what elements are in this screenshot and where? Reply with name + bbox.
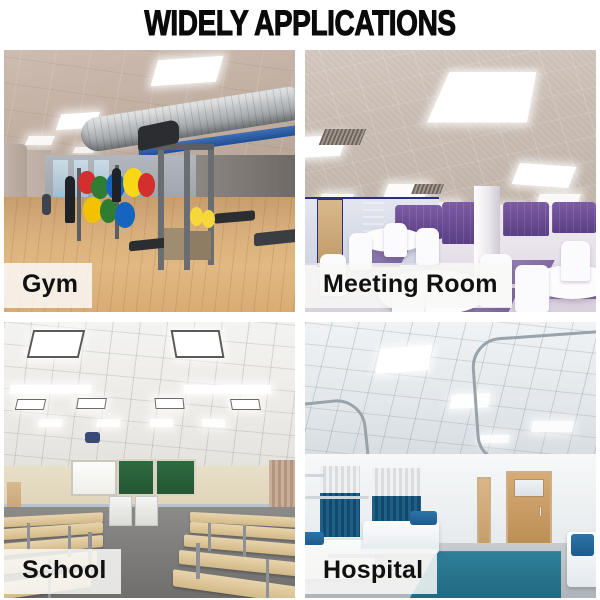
meeting-room-vent (411, 184, 444, 194)
led-panel-icon (151, 56, 224, 87)
school-desk-leg (196, 543, 199, 579)
meeting-room-booth-seat (552, 202, 596, 233)
hospital-wall-rail (305, 474, 325, 477)
school-projector (85, 432, 100, 443)
panel-gym[interactable]: Gym (4, 50, 295, 312)
school-chalkboard (117, 459, 155, 496)
hospital-curtain (320, 466, 361, 538)
panel-label-hospital: Hospital (305, 549, 437, 594)
school-desk-leg (208, 523, 211, 551)
gym-weight-stack (164, 228, 184, 259)
led-panel-icon (375, 345, 433, 373)
led-panel-icon (155, 398, 185, 409)
gym-person (112, 168, 121, 202)
application-collage: WIDELY APPLICATIONS (0, 0, 600, 600)
hospital-door-frame (477, 477, 492, 552)
led-panel-icon (38, 419, 63, 427)
school-desk-leg (243, 526, 246, 556)
hospital-bed-headboard (410, 511, 437, 525)
panel-label-gym: Gym (4, 263, 92, 308)
school-desk-leg (266, 559, 269, 598)
led-panel-icon (9, 385, 92, 394)
gym-weight-plate (202, 210, 215, 228)
led-panel-icon (14, 399, 46, 410)
led-panel-icon (511, 163, 576, 188)
gym-person (42, 194, 51, 215)
hospital-curtain-bottom (320, 493, 361, 537)
panel-grid: Gym (4, 50, 596, 598)
hospital-bed-headboard (571, 534, 594, 556)
hospital-bed (567, 532, 596, 587)
hospital-door (506, 471, 553, 551)
gym-person (65, 176, 75, 223)
school-projection-screen (71, 460, 118, 496)
meeting-room-chair (384, 223, 407, 257)
school-podium (109, 496, 132, 526)
meeting-room-chair (416, 228, 439, 265)
school-podium (135, 496, 158, 526)
led-panel-icon (25, 136, 55, 145)
led-panel-icon (230, 399, 261, 410)
panel-label-school: School (4, 549, 121, 594)
led-panel-icon (149, 419, 173, 427)
meeting-room-chair (515, 265, 550, 312)
hospital-curtain-top (320, 466, 361, 493)
hospital-door-handle (539, 506, 542, 517)
hospital-curtain-track (470, 327, 596, 466)
hospital-bed-headboard (305, 532, 324, 545)
panel-label-meeting-room: Meeting Room (305, 263, 512, 308)
gym-weight-plate (138, 173, 155, 197)
gym-weight-stack (190, 231, 210, 260)
meeting-room-booth-seat (503, 202, 550, 236)
page-title: WIDELY APPLICATIONS (60, 2, 540, 46)
school-chalkboard (155, 459, 196, 496)
led-panel-icon (76, 398, 107, 409)
meeting-room-vent (319, 129, 366, 145)
led-panel-icon (97, 419, 121, 427)
hospital-door-window (514, 479, 545, 497)
led-panel-icon (201, 419, 225, 427)
hospital-wall-rail (305, 496, 369, 499)
led-panel-icon (184, 385, 273, 394)
panel-hospital[interactable]: Hospital (305, 322, 596, 598)
hospital-curtain-top (372, 468, 421, 495)
led-panel-icon (170, 330, 224, 358)
meeting-room-chair (561, 241, 590, 280)
school-desk-leg (27, 523, 30, 551)
gym-weight-plate (115, 202, 135, 228)
panel-school[interactable]: School (4, 322, 295, 598)
panel-meeting-room[interactable]: Meeting Room (305, 50, 596, 312)
led-panel-icon (27, 330, 86, 358)
